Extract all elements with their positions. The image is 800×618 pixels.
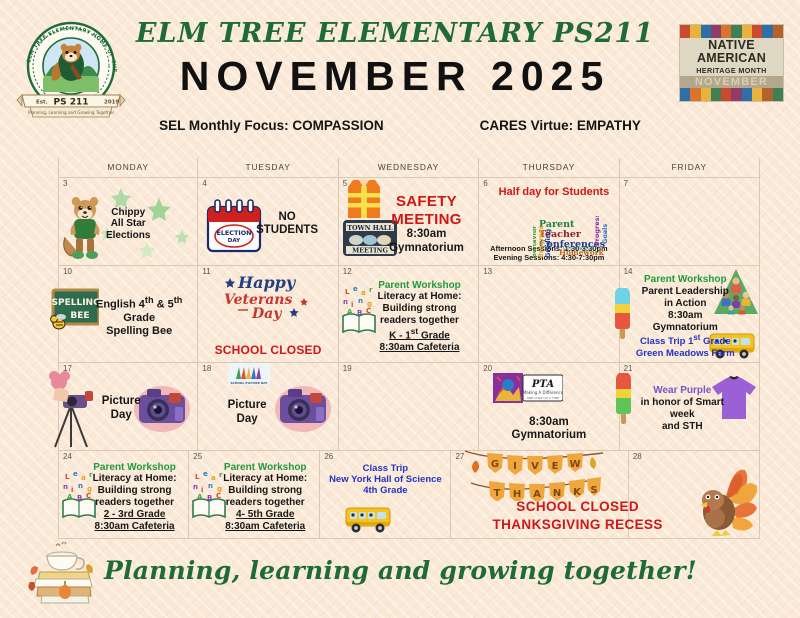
day-cell-6[interactable]: 6 Half day for Students Parent Teacher C… <box>479 178 619 266</box>
day-cell-21[interactable]: 21 Wear Purple in honor of Smart week an… <box>620 363 760 451</box>
monthly-focus-row: SEL Monthly Focus: COMPASSION CARES Virt… <box>0 118 800 133</box>
event-line: Parent Workshop <box>93 462 176 474</box>
badge-line-2: AMERICAN <box>697 52 766 65</box>
day-number: 25 <box>193 452 202 461</box>
day-number: 17 <box>63 364 72 373</box>
day-cell-14[interactable]: 14 <box>620 266 760 363</box>
event-line: SCHOOL CLOSED <box>215 343 322 357</box>
footer-motto: Planning, learning and growing together! <box>104 556 780 585</box>
day-cell-5[interactable]: 5 TOWN HALL MEETING SAFETY MEETING <box>339 178 479 266</box>
event-line: and STH <box>662 421 703 433</box>
event-line: in honor of Smart week <box>633 397 732 421</box>
native-american-heritage-month-badge: NATIVE AMERICAN HERITAGE MONTH NOVEMBER <box>679 24 784 102</box>
event-line: Building strong <box>383 303 457 315</box>
event-line: Green Meadows Farm <box>636 348 735 359</box>
svg-text:Grading: Grading <box>544 229 552 258</box>
day-cell-26[interactable]: 26 Class Trip New York Hall of Science 4… <box>320 451 451 539</box>
school-logo: ELM TREE ELEMENTARY HOME OF THE CHIPMUNK… <box>16 16 126 128</box>
event-line: Spelling Bee <box>106 325 172 338</box>
day-header-wednesday: WEDNESDAY <box>339 158 479 178</box>
event-line: SAFETY <box>396 193 457 211</box>
calendar-week-row: 3 <box>58 178 760 266</box>
event-line: Literacy at Home: <box>378 291 462 303</box>
event-line: All Star <box>111 218 146 230</box>
event-line: Gymnatorium <box>653 322 718 334</box>
day-number: 6 <box>483 179 487 188</box>
event-line: Literacy at Home: <box>93 473 177 485</box>
day-number: 21 <box>624 364 633 373</box>
day-cell-3[interactable]: 3 <box>58 178 198 266</box>
day-number: 13 <box>483 267 492 276</box>
event-content: Parent Workshop Literacy at Home: Buildi… <box>192 453 316 535</box>
event-line: K - 1st Grade <box>389 327 450 342</box>
day-number: 7 <box>624 179 628 188</box>
day-cell-4[interactable]: 4 ELECTION DAY NO STUDENTS <box>198 178 338 266</box>
svg-text:Goals: Goals <box>601 224 609 244</box>
event-content <box>623 180 756 262</box>
calendar-week-row: 24 L e a r n i n g A B C Parent Workshop… <box>58 451 760 539</box>
day-number: 27 <box>455 452 464 461</box>
event-content: Chippy All Star Elections <box>62 180 194 262</box>
day-header-thursday: THURSDAY <box>479 158 619 178</box>
day-of-week-header-row: MONDAY TUESDAY WEDNESDAY THURSDAY FRIDAY <box>58 158 760 178</box>
page-footer: Planning, learning and growing together! <box>0 542 800 612</box>
day-cell-13[interactable]: 13 <box>479 266 619 363</box>
month-year-title: NOVEMBER 2025 <box>130 53 660 100</box>
event-line: 8:30am <box>668 310 702 322</box>
event-line: Literacy at Home: <box>223 473 307 485</box>
calendar-week-row: 10 SPELLING BEE English 4th & 5th Grade … <box>58 266 760 363</box>
badge-line-3: HERITAGE MONTH <box>696 66 767 75</box>
seal-center-text: PS 211 <box>54 98 89 108</box>
calendar-week-row: 17 P <box>58 363 760 451</box>
day-header-monday: MONDAY <box>58 158 198 178</box>
day-number: 11 <box>202 267 210 276</box>
event-content <box>632 453 756 535</box>
event-line: 2 - 3rd Grade <box>104 509 166 521</box>
badge-bottom-pattern <box>680 88 783 101</box>
event-line: Gymnatorium <box>512 429 587 443</box>
page-header: ELM TREE ELEMENTARY HOME OF THE CHIPMUNK… <box>0 0 800 152</box>
event-line: Building strong <box>228 485 302 497</box>
day-number: 5 <box>343 179 347 188</box>
day-cell-28[interactable]: 28 <box>629 451 760 539</box>
event-line: Parent Workshop <box>644 274 727 286</box>
event-line: Half day for Students <box>499 186 610 199</box>
event-line: readers together <box>95 497 174 509</box>
event-line: Elections <box>106 230 150 242</box>
day-cell-17[interactable]: 17 P <box>58 363 198 451</box>
parent-teacher-conferences-wordart-icon: Parent Teacher Conferences Homework Comm… <box>533 216 617 260</box>
seal-est-right: 2019 <box>104 100 119 106</box>
event-line: Class Trip <box>363 463 408 474</box>
event-line: Building strong <box>98 485 172 497</box>
event-line: 4- 5th Grade <box>236 509 294 521</box>
event-content: Picture Day <box>201 365 334 447</box>
event-line: STUDENTS <box>256 224 318 238</box>
event-content: SAFETY MEETING 8:30am Gymnatorium <box>342 180 475 262</box>
event-content: Picture Day <box>62 365 194 447</box>
school-name: ELM TREE ELEMENTARY PS211 <box>130 18 660 49</box>
seal-ribbon-text: Planning, Learning and Growing Together <box>28 110 115 115</box>
title-block: ELM TREE ELEMENTARY PS211 NOVEMBER 2025 <box>130 18 660 100</box>
day-number: 12 <box>343 267 352 276</box>
event-line: 8:30am Cafeteria <box>379 342 459 354</box>
event-line: Grade <box>123 312 155 325</box>
event-line: Picture <box>102 395 141 409</box>
day-cell-27[interactable]: 27 GIV <box>451 451 628 539</box>
badge-top-pattern <box>680 25 783 38</box>
event-line: MEETING <box>391 211 461 229</box>
event-content: SCHOOL CLOSED <box>201 268 334 359</box>
event-line: Parent Workshop <box>378 280 461 292</box>
event-line: Parent Leadership <box>642 286 729 298</box>
event-content: Parent Workshop Literacy at Home: Buildi… <box>62 453 185 535</box>
day-number: 24 <box>63 452 72 461</box>
event-line: NO <box>278 211 295 225</box>
event-content: Class Trip New York Hall of Science 4th … <box>323 453 447 535</box>
event-content: Wear Purple in honor of Smart week and S… <box>623 365 756 447</box>
day-number: 18 <box>202 364 211 373</box>
day-number: 10 <box>63 267 72 276</box>
event-content: English 4th & 5th Grade Spelling Bee <box>62 268 194 359</box>
day-number: 20 <box>483 364 492 373</box>
event-line: 8:30am <box>529 416 569 430</box>
day-cell-20[interactable]: 20 PTA Making A Difference ONE CHILD AT … <box>479 363 619 451</box>
event-content <box>342 365 475 447</box>
event-content: Half day for Students Parent Teacher Con… <box>482 180 615 262</box>
books-and-coffee-icon <box>26 542 102 606</box>
event-line: Parent Workshop <box>224 462 307 474</box>
event-content: Parent Workshop Literacy at Home: Buildi… <box>342 268 475 359</box>
day-number: 26 <box>324 452 333 461</box>
day-cell-24[interactable]: 24 L e a r n i n g A B C Parent Workshop… <box>58 451 189 539</box>
event-line: Class Trip 1st Grade <box>640 333 730 347</box>
event-line: Gymnatorium <box>389 242 464 256</box>
event-line: in Action <box>664 298 706 310</box>
day-cell-25[interactable]: 25 L e a r n i n g A B C Parent Workshop… <box>189 451 320 539</box>
day-number: 28 <box>633 452 642 461</box>
event-line: readers together <box>380 315 459 327</box>
day-number: 4 <box>202 179 206 188</box>
badge-month-label: NOVEMBER <box>680 76 783 88</box>
day-number: 19 <box>343 364 352 373</box>
event-content: NO STUDENTS <box>201 180 334 262</box>
event-line: 8:30am Cafeteria <box>225 521 305 533</box>
event-line: Chippy <box>111 207 145 219</box>
event-line: 8:30am <box>407 228 447 242</box>
sel-monthly-focus: SEL Monthly Focus: COMPASSION <box>159 118 384 133</box>
day-cell-12[interactable]: 12 L e a r n i n g A B C Parent Workshop… <box>339 266 479 363</box>
event-line: readers together <box>226 497 305 509</box>
day-cell-18[interactable]: 18 SCHOOL PICTURE DAY <box>198 363 338 451</box>
calendar-grid: MONDAY TUESDAY WEDNESDAY THURSDAY FRIDAY… <box>58 158 760 539</box>
badge-text-block: NATIVE AMERICAN HERITAGE MONTH <box>680 38 783 76</box>
event-line: Picture <box>228 399 267 413</box>
event-line: New York Hall of Science <box>329 474 442 485</box>
event-line: Wear Purple <box>653 385 711 397</box>
seal-est-left: Est. <box>36 100 48 106</box>
svg-text:Progress: Progress <box>593 216 601 246</box>
thanksgiving-closed-line: SCHOOL CLOSED <box>516 499 639 515</box>
event-content <box>482 268 615 359</box>
event-content: 8:30am Gymnatorium <box>482 365 615 447</box>
day-cell-7[interactable]: 7 <box>620 178 760 266</box>
day-cell-10[interactable]: 10 SPELLING BEE English 4th & 5th Grade … <box>58 266 198 363</box>
day-cell-19[interactable]: 19 <box>339 363 479 451</box>
cares-virtue: CARES Virtue: EMPATHY <box>480 118 641 133</box>
school-seal-icon: ELM TREE ELEMENTARY HOME OF THE CHIPMUNK… <box>16 16 126 120</box>
event-line: English 4th & 5th <box>96 295 182 312</box>
event-line: 8:30am Cafeteria <box>95 521 175 533</box>
day-number: 14 <box>624 267 633 276</box>
day-cell-11[interactable]: 11 Happy Veterans Day SCHOOL CLOSED <box>198 266 338 363</box>
day-number: 3 <box>63 179 67 188</box>
day-header-friday: FRIDAY <box>620 158 760 178</box>
event-line: 4th Grade <box>363 485 407 496</box>
event-line: Day <box>111 409 132 423</box>
day-header-tuesday: TUESDAY <box>198 158 338 178</box>
event-line: Day <box>237 413 258 427</box>
event-content: Parent Workshop Parent Leadership in Act… <box>623 268 756 359</box>
